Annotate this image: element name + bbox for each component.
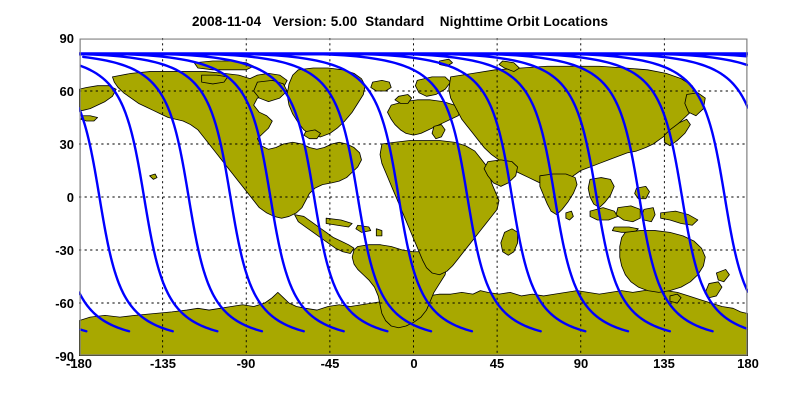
ytick-30: 30 [60,138,74,151]
xtick-45: 45 [472,357,522,370]
xtick-n45: -45 [305,357,355,370]
world-map-svg [79,38,748,356]
ytick-60: 60 [60,85,74,98]
xtick-135: 135 [639,357,689,370]
xtick-n90: -90 [221,357,271,370]
xtick-n135: -135 [138,357,188,370]
xtick-n180: -180 [54,357,104,370]
xtick-90: 90 [556,357,606,370]
ytick-n30: -30 [55,244,74,257]
figure-title: 2008-11-04 Version: 5.00 Standard Nightt… [0,14,800,29]
ytick-0: 0 [67,191,74,204]
ytick-n60: -60 [55,297,74,310]
map-plot-area [79,38,748,356]
land-iceland [371,80,391,91]
ytick-90: 90 [60,32,74,45]
xtick-180: 180 [723,357,773,370]
orbit-map-figure: 2008-11-04 Version: 5.00 Standard Nightt… [0,0,800,400]
xtick-0: 0 [389,357,439,370]
